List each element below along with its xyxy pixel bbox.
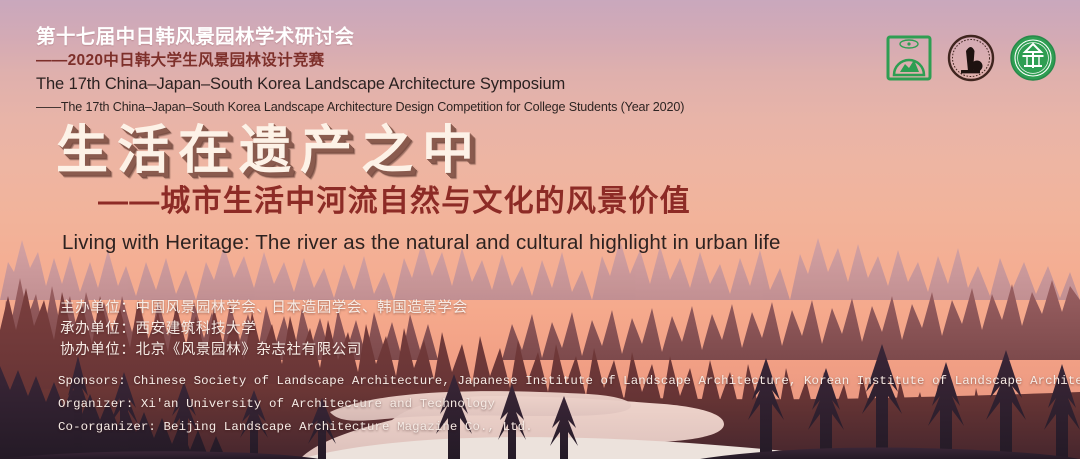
header-chinese-subtitle: ——2020中日韩大学生风景园林设计竞赛: [36, 50, 856, 71]
xauat-logo: [1008, 33, 1058, 83]
header-text-block: 第十七届中日韩风景园林学术研讨会 ——2020中日韩大学生风景园林设计竞赛 Th…: [36, 26, 856, 117]
main-subtitle-chinese: ——城市生活中河流自然与文化的风景价值: [98, 183, 956, 221]
header-english-title: The 17th China–Japan–South Korea Landsca…: [36, 73, 856, 95]
organization-logos: [884, 33, 1058, 83]
sponsors-english: Sponsors: Chinese Society of Landscape A…: [58, 370, 1080, 393]
organizations-english: Sponsors: Chinese Society of Landscape A…: [58, 370, 1080, 439]
jila-logo: [946, 33, 996, 83]
co-organizer-english: Co-organizer: Beijing Landscape Architec…: [58, 416, 1080, 439]
main-title-block: 生活在遗产之中 ——城市生活中河流自然与文化的风景价值 Living with …: [56, 122, 956, 258]
co-organizer-chinese: 协办单位：北京《风景园林》杂志社有限公司: [60, 340, 468, 361]
header-english-subtitle: ——The 17th China–Japan–South Korea Lands…: [36, 97, 856, 117]
organizations-chinese: 主办单位：中国风景园林学会、日本造园学会、韩国造景学会 承办单位：西安建筑科技大…: [60, 298, 468, 361]
chsla-logo: [884, 33, 934, 83]
organizer-english: Organizer: Xi'an University of Architect…: [58, 393, 1080, 416]
main-title-english: Living with Heritage: The river as the n…: [62, 228, 956, 258]
poster-banner: 第十七届中日韩风景园林学术研讨会 ——2020中日韩大学生风景园林设计竞赛 Th…: [0, 0, 1080, 459]
sponsors-chinese: 主办单位：中国风景园林学会、日本造园学会、韩国造景学会: [60, 298, 468, 319]
main-title-chinese: 生活在遗产之中: [56, 122, 956, 180]
organizer-chinese: 承办单位：西安建筑科技大学: [60, 319, 468, 340]
header-chinese-title: 第十七届中日韩风景园林学术研讨会: [36, 26, 856, 49]
